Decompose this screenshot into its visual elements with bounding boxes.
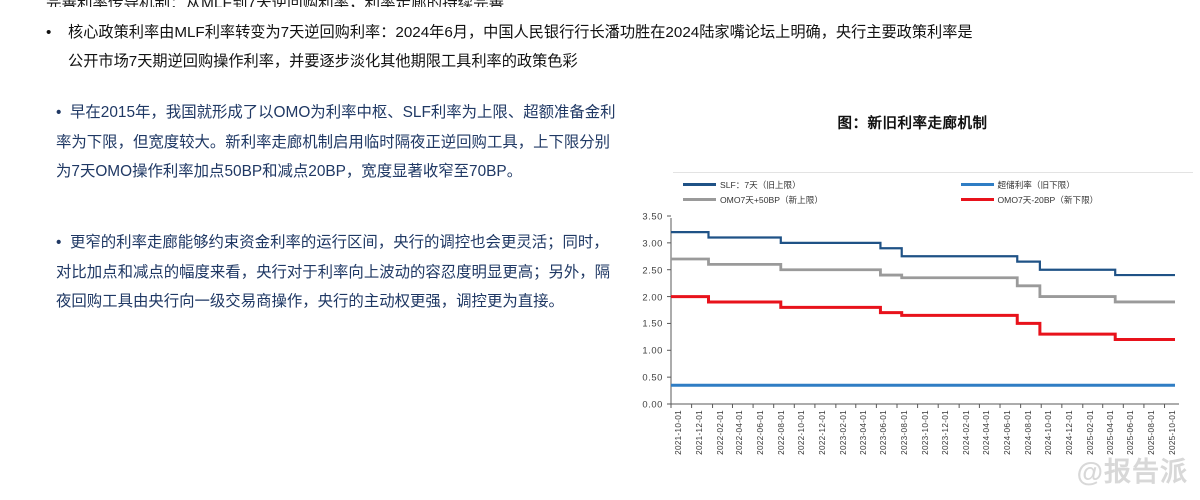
bullet-item-3: •更窄的利率走廊能够约束资金利率的运行区间，央行的调控也会更灵活；同时，对比加点…	[56, 228, 616, 317]
series-line	[671, 297, 1175, 340]
y-tick-label: 1.50	[642, 318, 663, 329]
series-line	[671, 259, 1175, 302]
bullet-marker: •	[56, 98, 70, 128]
x-tick-label: 2024-04-01	[982, 410, 991, 455]
x-tick-label: 2024-10-01	[1044, 410, 1053, 455]
legend-item-omo-upper: OMO7天+50BP（新上限）	[673, 194, 916, 206]
x-tick-label: 2023-02-01	[839, 410, 848, 455]
x-tick-label: 2023-06-01	[879, 410, 888, 455]
x-tick-label: 2021-10-01	[674, 410, 683, 455]
x-tick-label: 2023-08-01	[900, 410, 909, 455]
y-axis-labels: 0.000.501.001.502.002.503.003.50	[625, 212, 663, 408]
x-tick-label: 2024-12-01	[1065, 410, 1074, 455]
x-tick-label: 2022-12-01	[818, 410, 827, 455]
y-tick-label: 0.00	[642, 399, 663, 410]
y-tick-label: 0.50	[642, 372, 663, 383]
x-tick-label: 2022-04-01	[735, 410, 744, 455]
x-tick-label: 2022-08-01	[777, 410, 786, 455]
legend-item-slf: SLF：7天（旧上限）	[673, 179, 916, 191]
legend-row-1: SLF：7天（旧上限） 超储利率（旧下限）	[673, 177, 1193, 192]
x-tick-label: 2023-10-01	[921, 410, 930, 455]
y-tick-label: 3.50	[642, 211, 663, 222]
bullet-marker: •	[56, 228, 70, 258]
y-tick-label: 2.50	[642, 264, 663, 275]
legend-label-excess-reserve: 超储利率（旧下限）	[998, 179, 1075, 191]
legend-item-excess-reserve: 超储利率（旧下限）	[916, 179, 1194, 191]
legend-swatch-omo-upper	[683, 198, 716, 201]
legend-label-omo-lower: OMO7天-20BP（新下限）	[998, 194, 1099, 206]
x-tick-label: 2022-06-01	[756, 410, 765, 455]
y-tick-label: 2.00	[642, 291, 663, 302]
x-tick-label: 2023-12-01	[941, 410, 950, 455]
x-tick-label: 2024-08-01	[1024, 410, 1033, 455]
legend-label-slf: SLF：7天（旧上限）	[720, 179, 801, 191]
plot-area: 0.000.501.001.502.002.503.003.50 2021-10…	[625, 212, 1200, 422]
x-tick-label: 2025-08-01	[1147, 410, 1156, 455]
y-tick-label: 3.00	[642, 237, 663, 248]
cut-off-heading: 完善利率传导机制：从MLF到7天逆回购利率，利率走廊的持续完善	[46, 0, 606, 7]
x-tick-label: 2024-02-01	[962, 410, 971, 455]
x-tick-label: 2022-02-01	[716, 410, 725, 455]
chart-panel: 图：新旧利率走廊机制 SLF：7天（旧上限） 超储利率（旧下限） OMO7天+5…	[625, 0, 1200, 495]
slide-root: 完善利率传导机制：从MLF到7天逆回购利率，利率走廊的持续完善 •核心政策利率由…	[0, 0, 1200, 495]
x-tick-label: 2025-02-01	[1086, 410, 1095, 455]
x-tick-label: 2021-12-01	[695, 410, 704, 455]
x-tick-label: 2024-06-01	[1003, 410, 1012, 455]
x-tick-label: 2025-06-01	[1126, 410, 1135, 455]
legend-label-omo-upper: OMO7天+50BP（新上限）	[720, 194, 823, 206]
text-column: 完善利率传导机制：从MLF到7天逆回购利率，利率走廊的持续完善 •核心政策利率由…	[0, 0, 625, 495]
legend-swatch-excess-reserve	[961, 183, 994, 186]
bullet-2-text: 早在2015年，我国就形成了以OMO为利率中枢、SLF利率为上限、超额准备金利率…	[56, 104, 616, 180]
legend-swatch-slf	[683, 183, 716, 186]
x-tick-label: 2025-04-01	[1106, 410, 1115, 455]
chart-title: 图：新旧利率走廊机制	[625, 112, 1200, 133]
x-tick-label: 2025-10-01	[1168, 410, 1177, 455]
watermark: @报告派	[1077, 450, 1188, 489]
series-line	[671, 232, 1175, 275]
bullet-marker: •	[46, 18, 68, 47]
legend-row-2: OMO7天+50BP（新上限） OMO7天-20BP（新下限）	[673, 192, 1193, 207]
legend-swatch-omo-lower	[961, 198, 994, 201]
x-tick-label: 2023-04-01	[859, 410, 868, 455]
x-tick-label: 2022-10-01	[797, 410, 806, 455]
y-tick-label: 1.00	[642, 345, 663, 356]
legend-item-omo-lower: OMO7天-20BP（新下限）	[916, 194, 1194, 206]
bullet-3-text: 更窄的利率走廊能够约束资金利率的运行区间，央行的调控也会更灵活；同时，对比加点和…	[56, 234, 610, 310]
bullet-item-2: •早在2015年，我国就形成了以OMO为利率中枢、SLF利率为上限、超额准备金利…	[56, 98, 616, 187]
chart-legend: SLF：7天（旧上限） 超储利率（旧下限） OMO7天+50BP（新上限） OM…	[673, 172, 1193, 215]
chart-svg	[663, 212, 1193, 408]
